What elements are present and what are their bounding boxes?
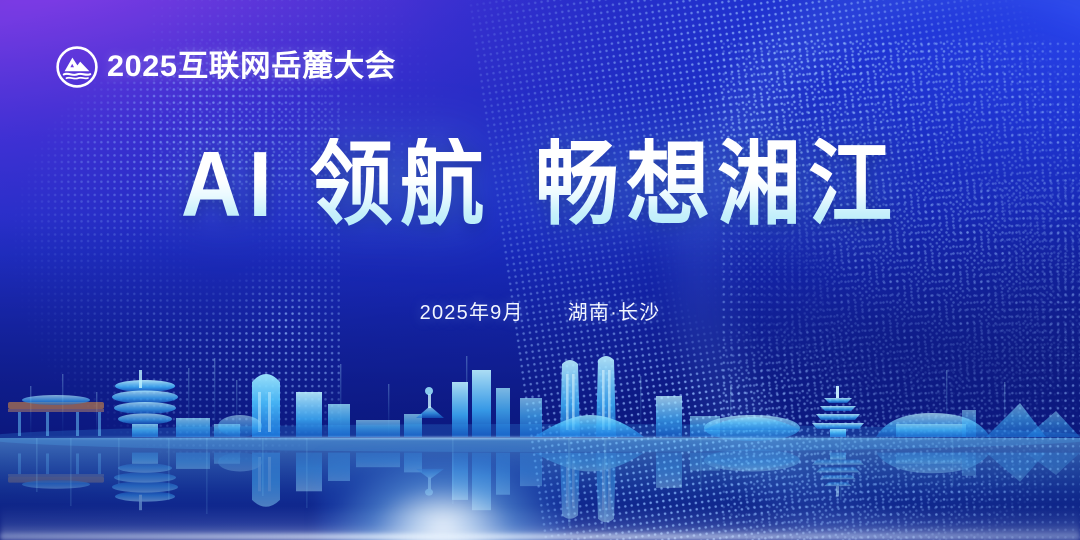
conference-key-visual-poster: 2025互联网岳麓大会 AI 领航畅想湘江 2025年9月 湖南·长沙 xyxy=(0,0,1080,540)
mountain-water-circle-logo-icon xyxy=(56,46,98,88)
subtitle-date: 2025年9月 xyxy=(420,303,524,323)
subtitle-location: 湖南·长沙 xyxy=(568,303,661,323)
hero-title-part-2: 畅想湘江 xyxy=(535,133,899,236)
subtitle-block: 2025年9月 湖南·长沙 xyxy=(0,303,1080,323)
hero-title-block: AI 领航畅想湘江 xyxy=(0,138,1080,222)
hero-title: AI 领航畅想湘江 xyxy=(181,138,899,230)
conference-logo-lockup: 2025互联网岳麓大会 xyxy=(56,44,390,90)
hero-title-part-1: AI 领航 xyxy=(181,133,491,236)
conference-logo-text: 2025互联网岳麓大会 xyxy=(107,52,396,82)
